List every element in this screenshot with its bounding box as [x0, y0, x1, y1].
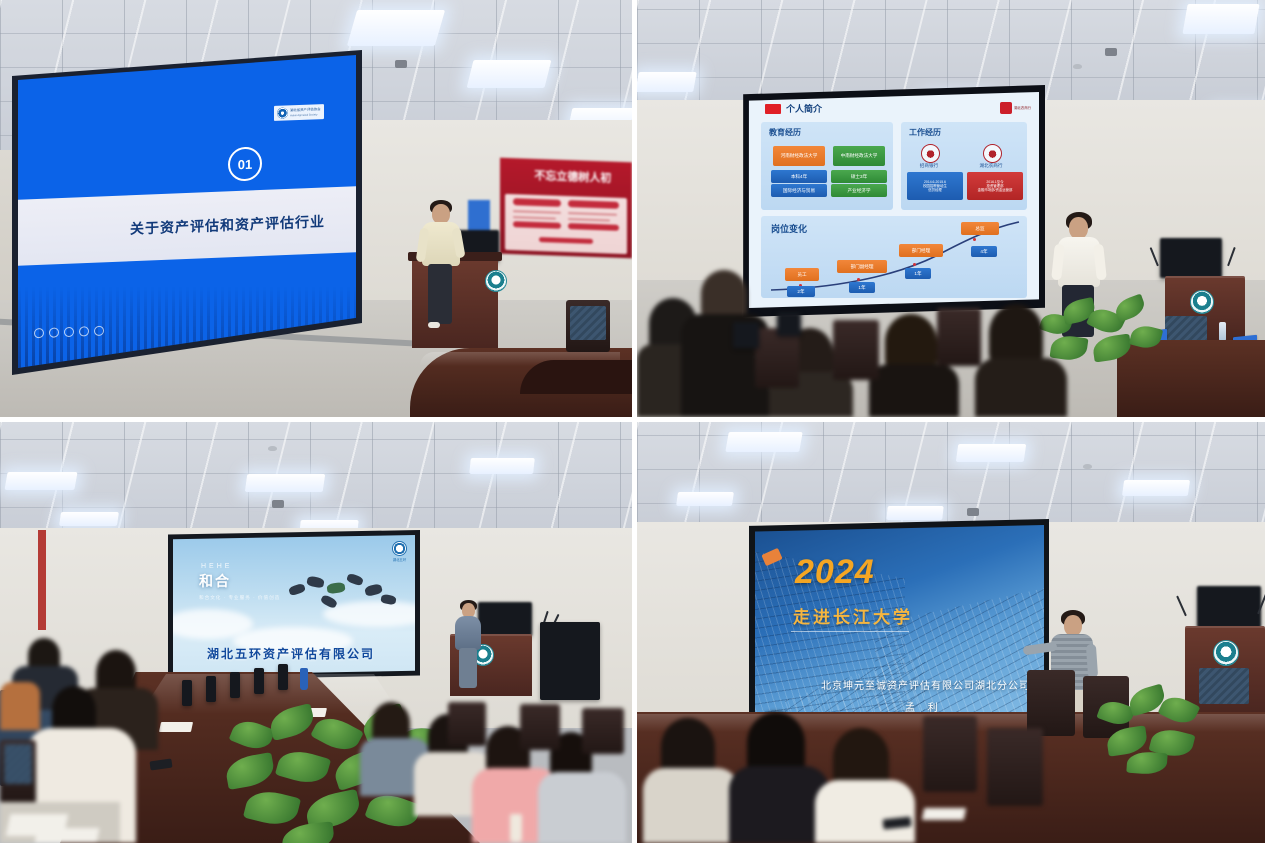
photo-top-right: 个人简介 湖北农商行 教育经历 河南财经政法大学 中南财经政法大学 本科4年 硕… [637, 0, 1265, 417]
wall-banner: 不忘立德树人初 [500, 158, 632, 259]
slide-screen-bottom-right: 2024 走进长江大学 北京坤元至诚资产评估有限公司湖北分公司 孟 利 [755, 525, 1044, 743]
toolbar-icon-grid[interactable] [94, 326, 104, 336]
bank-logo-mark [1000, 102, 1012, 114]
slide-company-bottom-right: 北京坤元至诚资产评估有限公司湖北分公司 [821, 677, 1030, 692]
company-logo-text: 湖北五环 [393, 557, 407, 562]
card-education: 教育经历 河南财经政法大学 中南财经政法大学 本科4年 硕士3年 国际经济与贸易… [761, 122, 893, 210]
career-years-4: 4年 [971, 246, 997, 257]
association-logo-name: 湖北省资产评估协会 [290, 107, 321, 112]
slide-brand-cn: 和合 [199, 571, 231, 591]
audience-top-right [637, 258, 1057, 417]
bank-icon-2 [983, 144, 1002, 163]
podium-emblem-br [1213, 640, 1239, 666]
skydivers-image [283, 569, 403, 619]
association-logo-mark [277, 107, 288, 118]
podium-monitor-right [1160, 238, 1222, 278]
desk-bottle [300, 668, 308, 690]
education-degree-1: 本科4年 [771, 170, 827, 183]
slide-header: 个人简介 [765, 102, 822, 115]
bank-logo-text: 湖北农商行 [1014, 106, 1031, 110]
presenter-top-left [418, 200, 466, 340]
podium-monitor-br [1197, 586, 1261, 628]
work-detail-1: 2014.6-2015.6 校园招聘管培生 信贷经理 [907, 172, 963, 200]
association-logo: 湖北省资产评估协会 Hubei Appraisal Society [274, 104, 324, 121]
podium-monitor-bl [478, 602, 532, 636]
side-display [540, 622, 600, 700]
career-role-3: 部门经理 [899, 244, 943, 257]
plant-bottom-right [1095, 684, 1215, 774]
flag-icon [765, 104, 781, 114]
slide-screen-top-left: 01 关于资产评估和资产评估行业 湖北省资产评估协会 Hubei Apprais… [18, 55, 356, 368]
work-detail-2: 2016.1至今 投资管理部 金融市场部/资金运营部 [967, 172, 1023, 200]
slide-year: 2024 [795, 553, 875, 592]
slide-header-text: 个人简介 [786, 102, 822, 115]
education-major-1: 国际经济与贸易 [771, 184, 827, 197]
bank-brand-logo: 湖北农商行 [1000, 102, 1031, 114]
card-education-title: 教育经历 [769, 127, 801, 138]
desk-monitor-5 [278, 664, 288, 690]
toolbar-icon-undo[interactable] [79, 326, 89, 336]
card-work-title: 工作经历 [909, 127, 941, 138]
education-school-2: 中南财经政法大学 [833, 146, 885, 166]
slide-number-badge: 01 [228, 146, 262, 181]
slide-subtitle: 和合文化 · 专业服务 · 价值创造 [199, 595, 280, 601]
company-logo: 湖北五环 [392, 541, 407, 562]
work-org-2: 湖北农商行 [968, 163, 1014, 169]
podium-emblem [485, 270, 507, 292]
work-org-1: 招商银行 [906, 163, 952, 169]
photo-bottom-right: 2024 走进长江大学 北京坤元至诚资产评估有限公司湖北分公司 孟 利 [637, 422, 1265, 843]
photo-top-left: 01 关于资产评估和资产评估行业 湖北省资产评估协会 Hubei Apprais… [0, 0, 632, 417]
toolbar-icon-pen[interactable] [64, 327, 74, 337]
career-role-4: 总监 [961, 222, 999, 235]
audience-bottom-right [637, 722, 1107, 843]
audience-bottom-left-right [360, 702, 632, 843]
slide-title-bottom-right: 走进长江大学 [793, 603, 913, 628]
audience-bottom-left [0, 632, 260, 843]
toolbar-icon-power[interactable] [34, 328, 44, 338]
slide-brand-en: HEHE [201, 563, 232, 570]
presenter-bottom-left [452, 600, 486, 700]
photo-collage: 01 关于资产评估和资产评估行业 湖北省资产评估协会 Hubei Apprais… [0, 0, 1265, 843]
company-logo-mark [392, 541, 407, 556]
wall-banner-headline: 不忘立德树人初 [534, 167, 611, 186]
education-major-2: 产业经济学 [831, 184, 887, 197]
podium-emblem-right [1190, 290, 1214, 314]
photo-bottom-left: HEHE 和合 和合文化 · 专业服务 · 价值创造 湖北五环资产评估有限公司 … [0, 422, 632, 843]
bank-icon-1 [921, 144, 940, 163]
association-logo-sub: Hubei Appraisal Society [290, 113, 317, 117]
toolbar-icon-menu[interactable] [49, 327, 59, 337]
education-degree-2: 硕士3年 [831, 170, 887, 183]
education-school-1: 河南财经政法大学 [773, 146, 825, 166]
water-bottle [1219, 322, 1226, 342]
card-work: 工作经历 招商银行 湖北农商行 2014.6-2015.6 校园招聘管培生 信贷… [901, 122, 1027, 210]
